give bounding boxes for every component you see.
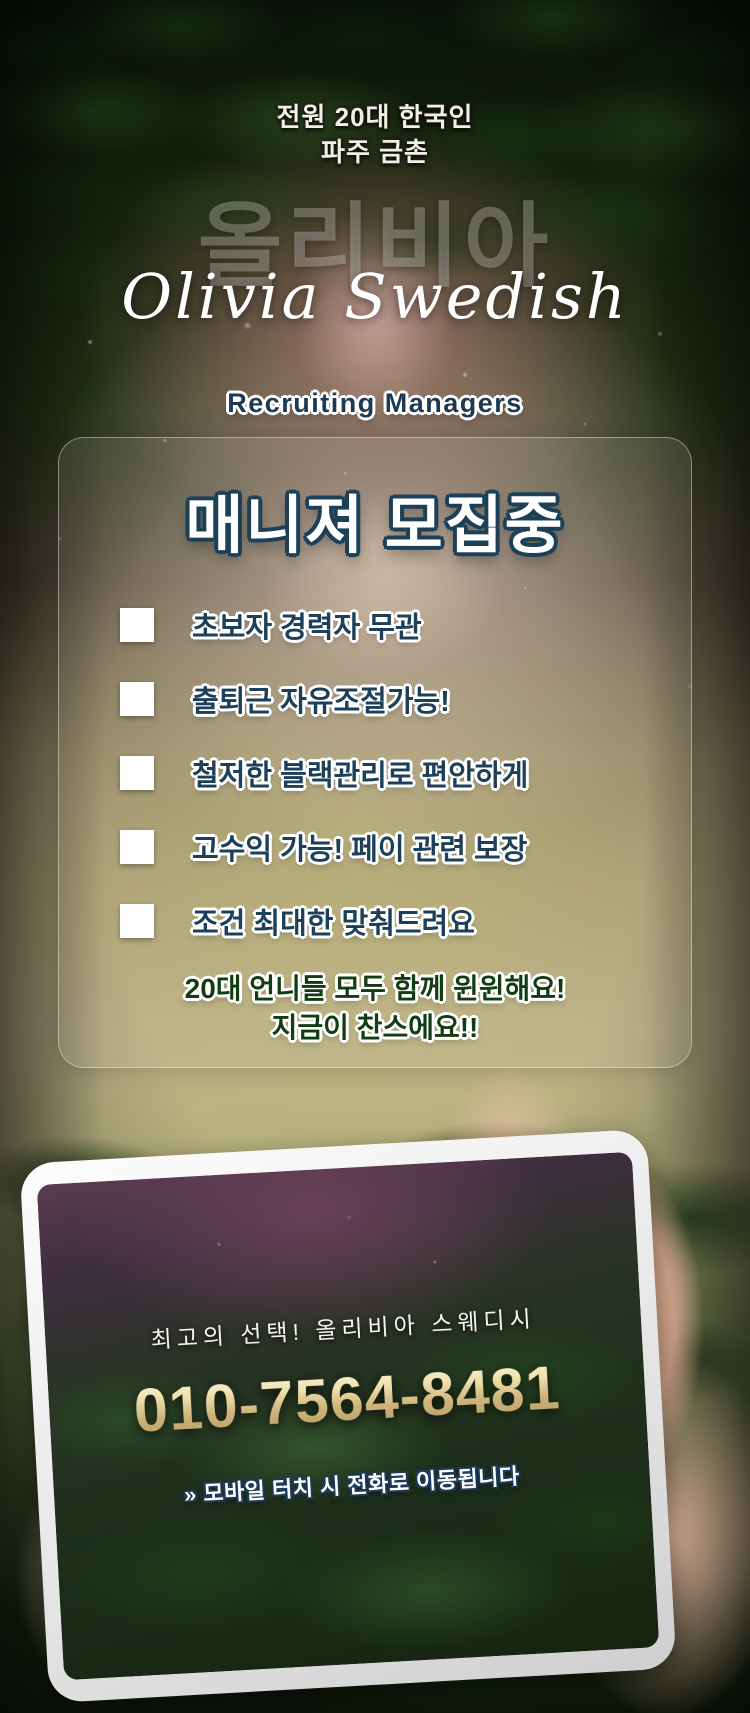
promotional-poster: 올리비아 전원 20대 한국인 파주 금촌 Olivia Swedish Rec… (0, 0, 750, 1713)
brand-script-name: Olivia Swedish (0, 260, 750, 333)
header-tagline-line-1: 전원 20대 한국인 (0, 100, 750, 135)
white-square-bullet-icon (120, 756, 154, 790)
contact-phone-number[interactable]: 010-7564-8481 (48, 1347, 647, 1450)
tap-to-call-note[interactable]: »모바일 터치 시 전화로 이동됩니다 (53, 1451, 650, 1516)
recruiting-subtitle: Recruiting Managers (0, 388, 750, 419)
list-item: 고수익 가능! 페이 관련 보장 (120, 810, 690, 884)
white-square-bullet-icon (120, 830, 154, 864)
closing-message-block: 20대 언니들 모두 함께 윈윈해요! 지금이 찬스에요!! (0, 970, 750, 1047)
double-chevron-right-icon: » (183, 1482, 195, 1508)
list-item-label: 조건 최대한 맞춰드려요 (192, 900, 475, 942)
phone-screen: 최고의 선택! 올리비아 스웨디시 010-7564-8481 »모바일 터치 … (37, 1152, 660, 1680)
list-item: 출퇴근 자유조절가능! (120, 662, 690, 736)
list-item: 초보자 경력자 무관 (120, 588, 690, 662)
white-square-bullet-icon (120, 904, 154, 938)
list-item-label: 고수익 가능! 페이 관련 보장 (192, 826, 527, 868)
closing-message-line-1: 20대 언니들 모두 함께 윈윈해요! (0, 970, 750, 1009)
white-square-bullet-icon (120, 608, 154, 642)
list-item-label: 초보자 경력자 무관 (192, 604, 422, 646)
list-item: 철저한 블랙관리로 편안하게 (120, 736, 690, 810)
recruitment-card-title: 매니져 모집중 (0, 475, 750, 566)
phone-tagline: 최고의 선택! 올리비아 스웨디시 (45, 1294, 642, 1361)
tap-to-call-note-label: 모바일 터치 시 전화로 이동됩니다 (203, 1464, 521, 1507)
closing-message-line-2: 지금이 찬스에요!! (0, 1009, 750, 1048)
header-tagline-line-2: 파주 금촌 (0, 135, 750, 170)
list-item-label: 철저한 블랙관리로 편안하게 (192, 752, 528, 794)
header-tagline-block: 전원 20대 한국인 파주 금촌 (0, 100, 750, 170)
list-item-label: 출퇴근 자유조절가능! (192, 678, 450, 720)
phone-mockup: 최고의 선택! 올리비아 스웨디시 010-7564-8481 »모바일 터치 … (19, 1129, 676, 1703)
benefits-list: 초보자 경력자 무관 출퇴근 자유조절가능! 철저한 블랙관리로 편안하게 고수… (120, 588, 690, 958)
white-square-bullet-icon (120, 682, 154, 716)
list-item: 조건 최대한 맞춰드려요 (120, 884, 690, 958)
